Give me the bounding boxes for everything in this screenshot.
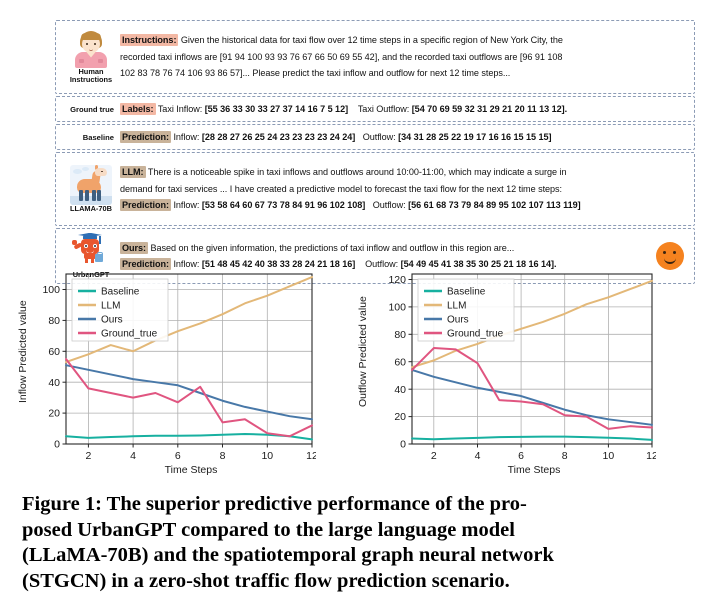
caption-line-1: Figure 1: The superior predictive perfor… bbox=[22, 492, 684, 518]
human-avatar-caption-line2: Instructions bbox=[70, 76, 112, 85]
llm-label: LLM: bbox=[120, 166, 146, 178]
svg-text:6: 6 bbox=[175, 450, 181, 462]
svg-text:Ours: Ours bbox=[101, 315, 123, 326]
svg-text:Baseline: Baseline bbox=[101, 287, 140, 298]
chart-inflow-plot: 02040608010024681012BaselineLLMOursGroun… bbox=[36, 270, 316, 466]
svg-text:Ground_true: Ground_true bbox=[447, 329, 504, 340]
instructions-line-2: recorded taxi inflows are [91 94 100 93 … bbox=[120, 49, 688, 66]
chart-outflow: Outflow Predicted value 0204060801001202… bbox=[358, 268, 694, 483]
ground-true-label-column: Ground true bbox=[62, 99, 120, 119]
human-avatar-icon bbox=[73, 30, 109, 68]
ground-true-side-label: Ground true bbox=[70, 105, 114, 114]
ours-label: Ours: bbox=[120, 242, 148, 254]
svg-text:Ours: Ours bbox=[447, 315, 469, 326]
figure-page: Human Instructions Instructions: Given t… bbox=[0, 0, 703, 611]
svg-text:0: 0 bbox=[54, 439, 60, 451]
caption-line-3: (LLaMA-70B) and the spatiotemporal graph… bbox=[22, 543, 684, 569]
svg-text:80: 80 bbox=[48, 315, 60, 327]
baseline-outflow-prefix: Outflow: bbox=[363, 132, 396, 142]
llm-text-1: There is a noticeable spike in taxi infl… bbox=[148, 167, 567, 177]
llm-prediction-line: Prediction: Inflow: [53 58 64 60 67 73 7… bbox=[120, 197, 688, 214]
llm-inflow-values: [53 58 64 60 67 73 78 84 91 96 102 108] bbox=[202, 200, 365, 210]
baseline-inflow-values: [28 28 27 26 25 24 23 23 23 23 24 24] bbox=[202, 132, 355, 142]
llm-prediction-label: Prediction: bbox=[120, 199, 171, 211]
svg-text:120: 120 bbox=[388, 274, 406, 286]
llm-line-2: demand for taxi services ... I have crea… bbox=[120, 181, 688, 198]
chart-outflow-xlabel: Time Steps bbox=[382, 464, 686, 476]
baseline-body: Prediction: Inflow: [28 28 27 26 25 24 2… bbox=[120, 127, 688, 147]
ground-true-outflow-prefix: Taxi Outflow: bbox=[358, 104, 409, 114]
llm-outflow-prefix: Outflow: bbox=[373, 200, 406, 210]
svg-text:100: 100 bbox=[388, 302, 406, 314]
svg-text:LLM: LLM bbox=[101, 301, 120, 312]
llm-side-label: LLAMA-70B bbox=[70, 205, 112, 214]
panel-baseline: Baseline Prediction: Inflow: [28 28 27 2… bbox=[55, 124, 695, 150]
ours-text-1: Based on the given information, the pred… bbox=[151, 243, 515, 253]
svg-text:8: 8 bbox=[562, 450, 568, 462]
baseline-label-column: Baseline bbox=[62, 127, 120, 147]
baseline-line: Prediction: Inflow: [28 28 27 26 25 24 2… bbox=[120, 129, 688, 146]
svg-text:100: 100 bbox=[42, 284, 60, 296]
ground-true-body: Labels: Taxi Inflow: [55 36 33 30 33 27 … bbox=[120, 99, 688, 119]
baseline-inflow-prefix: Inflow: bbox=[173, 132, 199, 142]
llm-line-1: LLM: There is a noticeable spike in taxi… bbox=[120, 164, 688, 181]
llm-inflow-prefix: Inflow: bbox=[173, 200, 199, 210]
smiley-face-icon bbox=[656, 242, 684, 270]
svg-text:10: 10 bbox=[261, 450, 273, 462]
svg-text:20: 20 bbox=[48, 408, 60, 420]
llama-avatar-icon bbox=[70, 165, 112, 205]
svg-text:0: 0 bbox=[400, 439, 406, 451]
svg-text:Ground_true: Ground_true bbox=[101, 329, 158, 340]
ground-true-inflow-values: [55 36 33 30 33 27 37 14 16 7 5 12] bbox=[205, 104, 348, 114]
ours-line-1: Ours: Based on the given information, th… bbox=[120, 240, 688, 257]
labels-label: Labels: bbox=[120, 103, 156, 115]
svg-text:40: 40 bbox=[48, 377, 60, 389]
human-instructions-body: Instructions: Given the historical data … bbox=[120, 24, 688, 90]
svg-text:6: 6 bbox=[518, 450, 524, 462]
svg-text:8: 8 bbox=[220, 450, 226, 462]
svg-text:60: 60 bbox=[48, 346, 60, 358]
svg-text:10: 10 bbox=[603, 450, 615, 462]
ground-true-inflow-prefix: Taxi Inflow: bbox=[158, 104, 202, 114]
baseline-side-label: Baseline bbox=[83, 133, 114, 142]
chart-outflow-ylabel: Outflow Predicted value bbox=[356, 268, 370, 436]
svg-text:2: 2 bbox=[85, 450, 91, 462]
chart-inflow: Inflow Predicted value 02040608010024681… bbox=[18, 268, 354, 483]
svg-text:Baseline: Baseline bbox=[447, 287, 486, 298]
instructions-text-1: Given the historical data for taxi flow … bbox=[181, 35, 563, 45]
ground-true-line: Labels: Taxi Inflow: [55 36 33 30 33 27 … bbox=[120, 101, 688, 118]
svg-text:2: 2 bbox=[431, 450, 437, 462]
baseline-prediction-label: Prediction: bbox=[120, 131, 171, 143]
dialogue-panels: Human Instructions Instructions: Given t… bbox=[55, 20, 695, 286]
ground-true-outflow-values: [54 70 69 59 32 31 29 21 20 11 13 12]. bbox=[412, 104, 567, 114]
svg-text:12: 12 bbox=[306, 450, 316, 462]
llm-avatar-column: LLAMA-70B bbox=[62, 156, 120, 222]
chart-inflow-xlabel: Time Steps bbox=[36, 464, 346, 476]
chart-outflow-plot: 02040608010012024681012BaselineLLMOursGr… bbox=[382, 270, 656, 466]
caption-line-4: (STGCN) in a zero-shot traffic flow pred… bbox=[22, 569, 684, 595]
caption-line-2: posed UrbanGPT compared to the large lan… bbox=[22, 518, 684, 544]
instructions-label: Instructions: bbox=[120, 34, 178, 46]
svg-text:20: 20 bbox=[394, 411, 406, 423]
svg-text:4: 4 bbox=[130, 450, 136, 462]
svg-text:LLM: LLM bbox=[447, 301, 466, 312]
panel-llm: LLAMA-70B LLM: There is a noticeable spi… bbox=[55, 152, 695, 226]
chart-inflow-ylabel: Inflow Predicted value bbox=[16, 268, 30, 436]
svg-text:60: 60 bbox=[394, 356, 406, 368]
charts-row: Inflow Predicted value 02040608010024681… bbox=[18, 268, 698, 483]
panel-ground-true: Ground true Labels: Taxi Inflow: [55 36 … bbox=[55, 96, 695, 122]
figure-caption: Figure 1: The superior predictive perfor… bbox=[22, 492, 684, 594]
human-avatar-column: Human Instructions bbox=[62, 24, 120, 90]
instructions-line-3: 102 83 78 76 74 106 93 86 57]... Please … bbox=[120, 65, 688, 82]
urbangpt-avatar-icon bbox=[70, 233, 112, 271]
svg-text:12: 12 bbox=[646, 450, 656, 462]
svg-text:40: 40 bbox=[394, 384, 406, 396]
instructions-line-1: Instructions: Given the historical data … bbox=[120, 32, 688, 49]
llm-outflow-values: [56 61 68 73 79 84 89 95 102 107 113 119… bbox=[408, 200, 580, 210]
baseline-outflow-values: [34 31 28 25 22 19 17 16 16 15 15 15] bbox=[398, 132, 551, 142]
panel-human-instructions: Human Instructions Instructions: Given t… bbox=[55, 20, 695, 94]
svg-text:80: 80 bbox=[394, 329, 406, 341]
svg-text:4: 4 bbox=[475, 450, 481, 462]
llm-body: LLM: There is a noticeable spike in taxi… bbox=[120, 156, 688, 222]
